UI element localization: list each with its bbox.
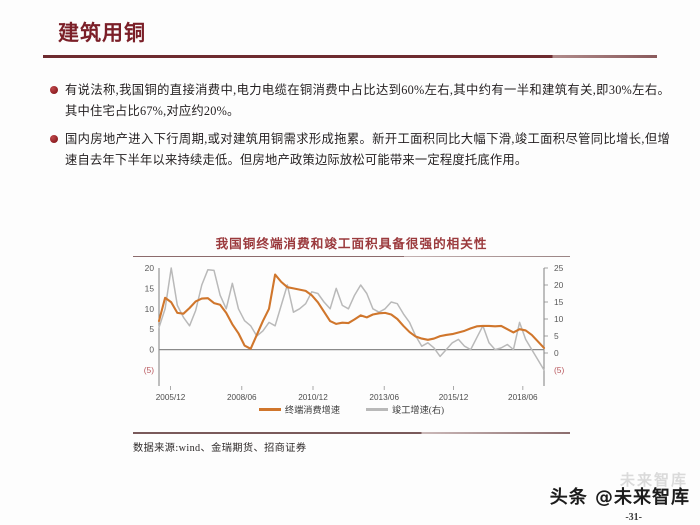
y-axis-left-tick-label: (5) — [144, 365, 154, 375]
bullet-dot-icon — [50, 86, 58, 94]
chart-plot-area: 20151050(5)2520151050(5)2005/122008/0620… — [133, 262, 570, 400]
y-axis-right-tick-label: 10 — [554, 314, 564, 324]
chart-block: 我国铜终端消费和竣工面积具备很强的相关性 20151050(5)25201510… — [133, 232, 570, 477]
line-chart-svg: 20151050(5)2520151050(5)2005/122008/0620… — [133, 262, 570, 400]
legend-label-right: 竣工增速(右) — [392, 402, 444, 416]
page-title: 建筑用铜 — [58, 17, 146, 47]
bullet-dot-icon — [50, 135, 58, 143]
watermark: 未来智库 头条 @未来智库 — [542, 467, 692, 519]
x-axis-tick-label: 2018/06 — [508, 393, 538, 400]
series-line-completion — [159, 268, 544, 370]
slide-root: 建筑用铜 有说法称,我国铜的直接消费中,电力电缆在铜消费中占比达到60%左右,其… — [0, 0, 700, 525]
legend-swatch-right — [366, 408, 388, 410]
legend-swatch-left — [259, 408, 281, 410]
title-underline-rule — [43, 55, 657, 58]
x-axis-tick-label: 2008/06 — [227, 393, 257, 400]
watermark-main-text: 头条 @未来智库 — [550, 483, 690, 509]
bullet-text: 有说法称,我国铜的直接消费中,电力电缆在铜消费中占比达到60%左右,其中约有一半… — [65, 80, 670, 122]
bullet-text: 国内房地产进入下行周期,或对建筑用铜需求形成拖累。新开工面积同比大幅下滑,竣工面… — [65, 129, 670, 171]
legend-item-right-series: 竣工增速(右) — [366, 402, 444, 416]
chart-source-note: 数据来源:wind、金瑞期货、招商证券 — [133, 439, 570, 454]
y-axis-right-tick-label: 5 — [554, 331, 559, 341]
x-axis-tick-label: 2005/12 — [156, 393, 186, 400]
page-number: -31- — [625, 512, 642, 523]
list-item: 有说法称,我国铜的直接消费中,电力电缆在铜消费中占比达到60%左右,其中约有一半… — [50, 80, 670, 122]
x-axis-tick-label: 2013/06 — [369, 393, 399, 400]
y-axis-right-tick-label: 0 — [554, 348, 559, 358]
x-axis-tick-label: 2015/12 — [439, 393, 469, 400]
chart-title-rule — [133, 256, 570, 257]
y-axis-left-tick-label: 5 — [149, 325, 154, 335]
y-axis-left-tick-label: 10 — [145, 304, 155, 314]
y-axis-left-tick-label: 0 — [149, 345, 154, 355]
y-axis-right-tick-label: (5) — [554, 365, 564, 375]
chart-title: 我国铜终端消费和竣工面积具备很强的相关性 — [133, 232, 570, 252]
y-axis-right-tick-label: 20 — [554, 280, 564, 290]
source-separator-rule — [133, 432, 570, 433]
y-axis-right-tick-label: 15 — [554, 297, 564, 307]
legend-label-left: 终端消费增速 — [285, 402, 340, 416]
y-axis-left-tick-label: 20 — [145, 263, 155, 273]
chart-legend: 终端消费增速 竣工增速(右) — [133, 402, 570, 416]
x-axis-tick-label: 2010/12 — [298, 393, 328, 400]
list-item: 国内房地产进入下行周期,或对建筑用铜需求形成拖累。新开工面积同比大幅下滑,竣工面… — [50, 129, 670, 171]
series-line-consumption — [159, 275, 544, 349]
y-axis-left-tick-label: 15 — [145, 284, 155, 294]
legend-item-left-series: 终端消费增速 — [259, 402, 340, 416]
bullet-list: 有说法称,我国铜的直接消费中,电力电缆在铜消费中占比达到60%左右,其中约有一半… — [50, 80, 670, 178]
y-axis-right-tick-label: 25 — [554, 263, 564, 273]
